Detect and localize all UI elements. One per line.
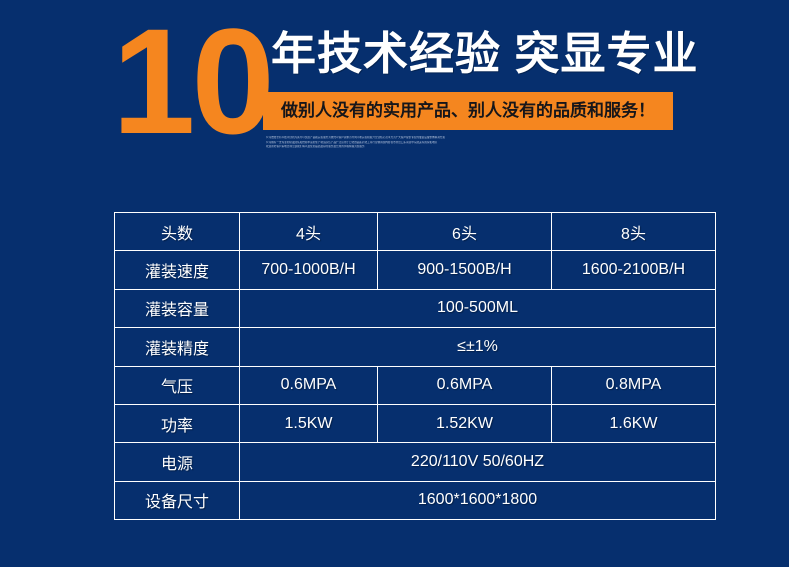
table-row: 灌装容量 100-500ML bbox=[115, 289, 716, 327]
table-row: 电源 220/110V 50/60HZ bbox=[115, 443, 716, 481]
row-label: 功率 bbox=[115, 404, 240, 442]
row-value-merged: ≤±1% bbox=[240, 328, 716, 366]
row-label: 灌装精度 bbox=[115, 328, 240, 366]
row-value: 0.6MPA bbox=[378, 366, 552, 404]
row-value: 1.6KW bbox=[552, 404, 716, 442]
row-value: 1.5KW bbox=[240, 404, 378, 442]
row-value: 1.52KW bbox=[378, 404, 552, 442]
row-value-merged: 220/110V 50/60HZ bbox=[240, 443, 716, 481]
row-value-merged: 100-500ML bbox=[240, 289, 716, 327]
row-value-merged: 1600*1600*1800 bbox=[240, 481, 716, 519]
fine-print-line: 欢迎新老客户来电咨询洽谈我们将以最优的品质最好的服务最合理的价格竭诚为您服务 bbox=[266, 145, 536, 150]
product-spec-banner: 10 年技术经验 突显专业 做别人没有的实用产品、别人没有的品质和服务！ 公司始… bbox=[0, 0, 789, 567]
row-label: 灌装速度 bbox=[115, 251, 240, 289]
row-value: 0.8MPA bbox=[552, 366, 716, 404]
years-number: 10 bbox=[112, 6, 271, 156]
row-value: 8头 bbox=[552, 213, 716, 251]
row-label: 头数 bbox=[115, 213, 240, 251]
table-row: 灌装精度 ≤±1% bbox=[115, 328, 716, 366]
fine-print-block: 公司始终坚持以技术创新为先导以优质产品和完善服务为依托以客户需求为导向不断完善和… bbox=[266, 136, 672, 158]
subtitle-text: 做别人没有的实用产品、别人没有的品质和服务！ bbox=[263, 92, 673, 130]
row-label: 气压 bbox=[115, 366, 240, 404]
row-label: 电源 bbox=[115, 443, 240, 481]
headline-text: 年技术经验 突显专业 bbox=[271, 26, 699, 82]
row-value: 1600-2100B/H bbox=[552, 251, 716, 289]
table-row: 气压 0.6MPA 0.6MPA 0.8MPA bbox=[115, 366, 716, 404]
banner-header: 10 年技术经验 突显专业 做别人没有的实用产品、别人没有的品质和服务！ 公司始… bbox=[0, 0, 789, 175]
row-value: 4头 bbox=[240, 213, 378, 251]
spec-table: 头数 4头 6头 8头 灌装速度 700-1000B/H 900-1500B/H… bbox=[114, 212, 716, 520]
table-row: 功率 1.5KW 1.52KW 1.6KW bbox=[115, 404, 716, 442]
row-value: 6头 bbox=[378, 213, 552, 251]
row-label: 设备尺寸 bbox=[115, 481, 240, 519]
row-value: 700-1000B/H bbox=[240, 251, 378, 289]
row-label: 灌装容量 bbox=[115, 289, 240, 327]
subtitle-highlight-bar: 做别人没有的实用产品、别人没有的品质和服务！ bbox=[263, 92, 673, 130]
spec-table-container: 头数 4头 6头 8头 灌装速度 700-1000B/H 900-1500B/H… bbox=[114, 212, 711, 511]
row-value: 900-1500B/H bbox=[378, 251, 552, 289]
table-row: 头数 4头 6头 8头 bbox=[115, 213, 716, 251]
table-row: 设备尺寸 1600*1600*1800 bbox=[115, 481, 716, 519]
row-value: 0.6MPA bbox=[240, 366, 378, 404]
table-row: 灌装速度 700-1000B/H 900-1500B/H 1600-2100B/… bbox=[115, 251, 716, 289]
